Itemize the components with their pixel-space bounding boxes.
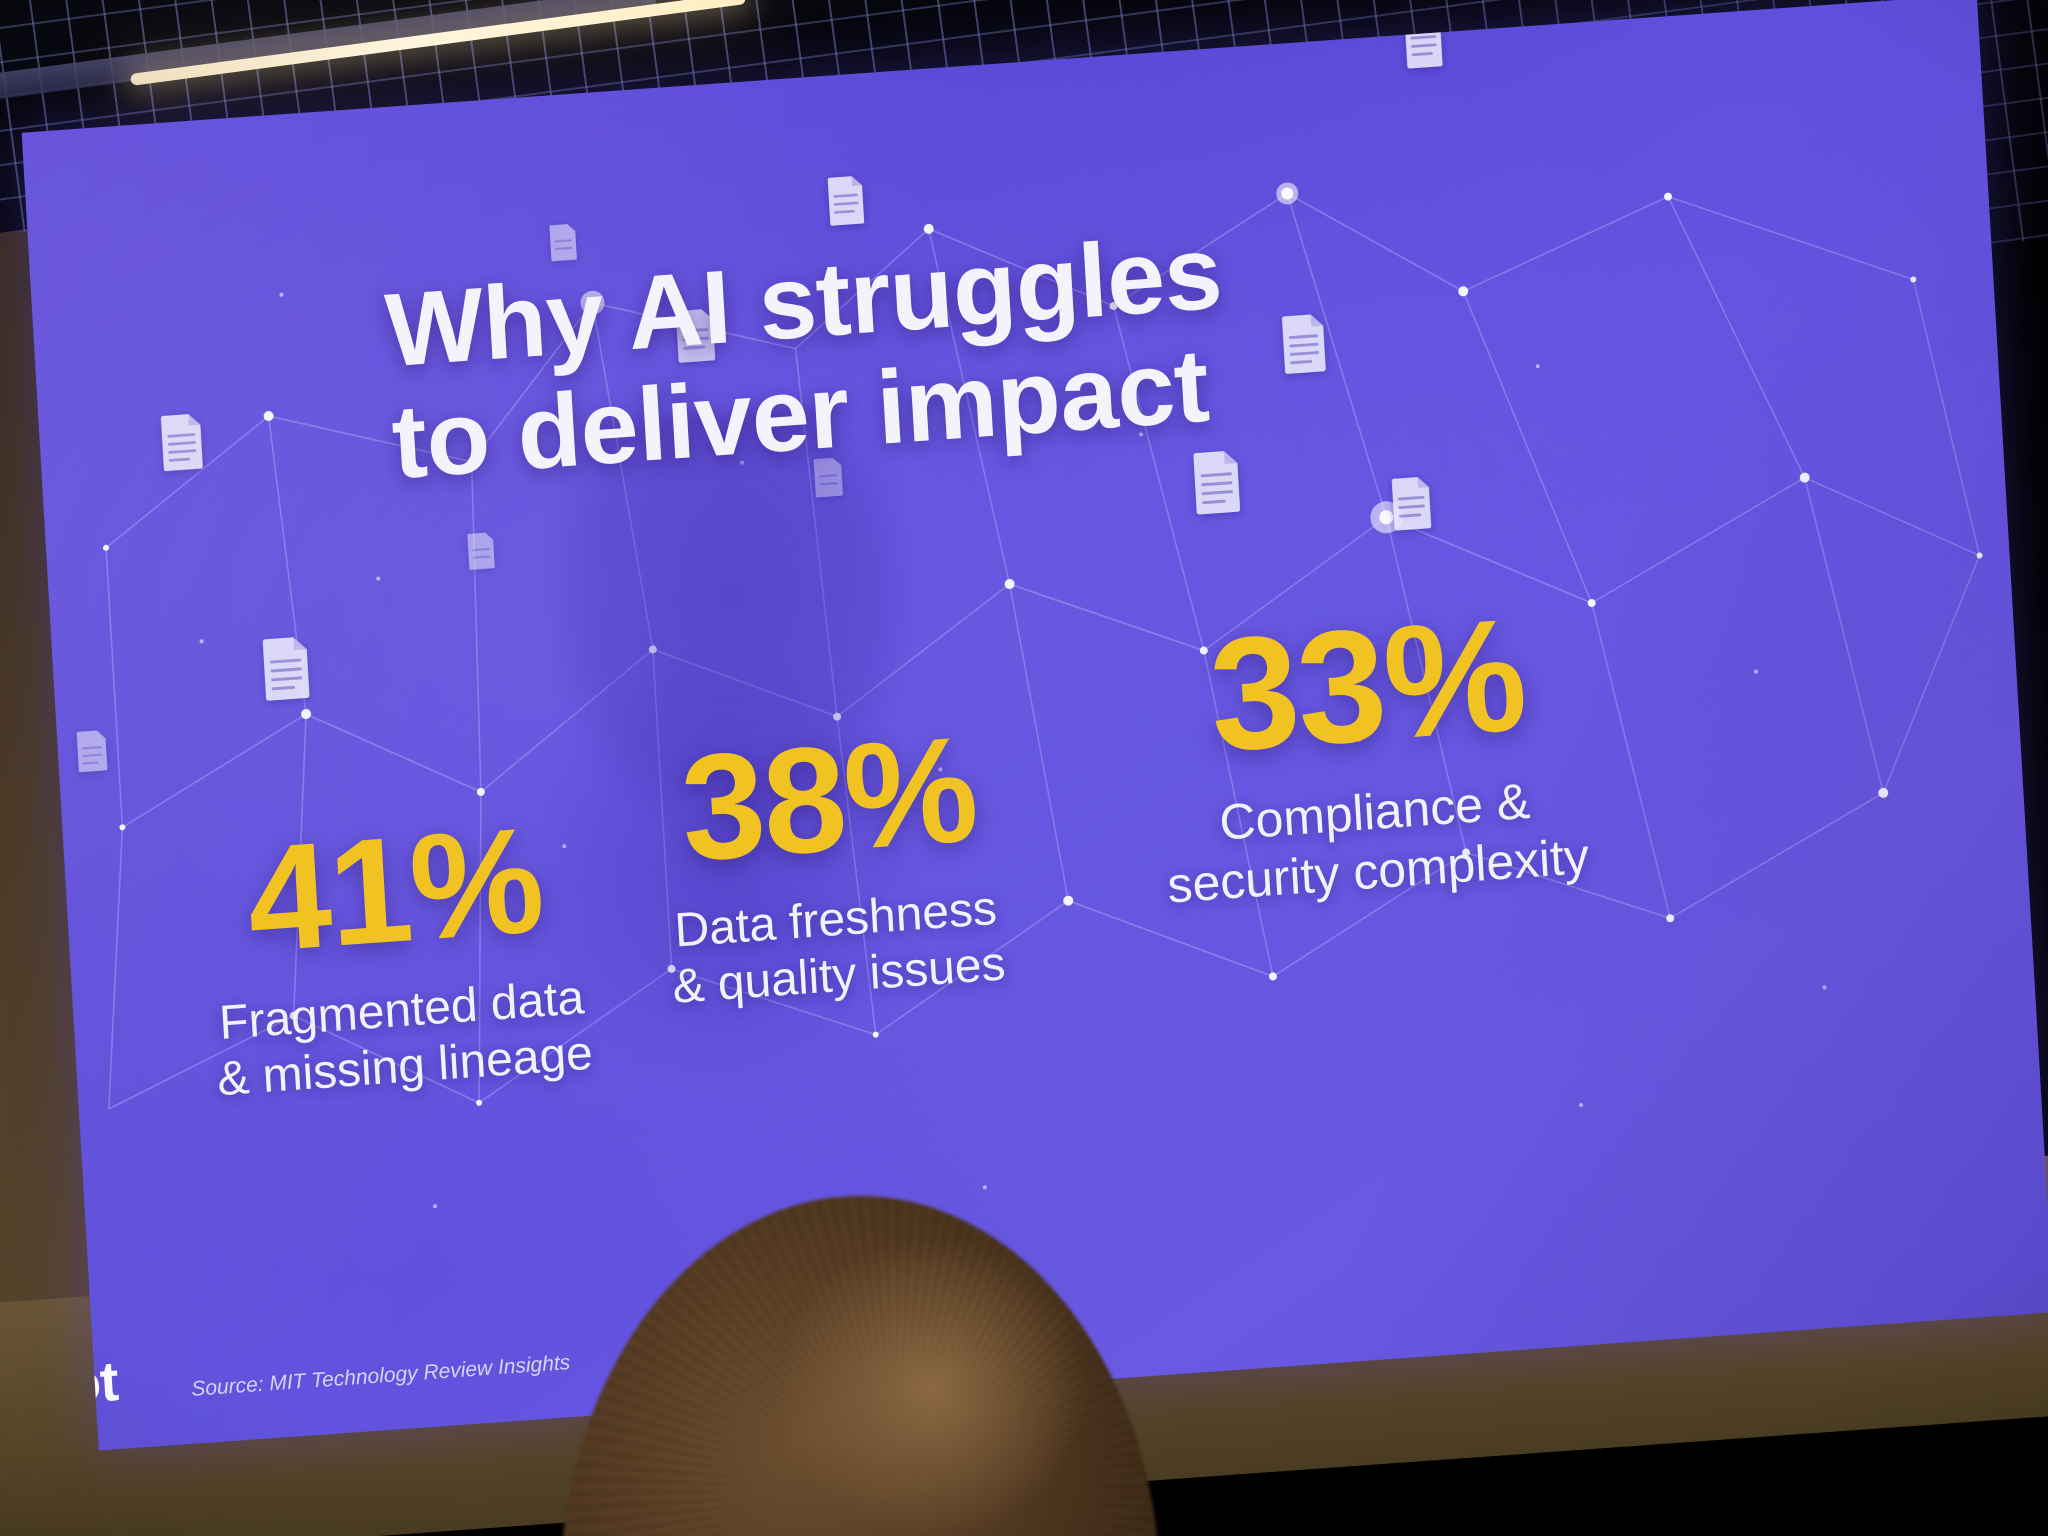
- screenshot-root: Why AI struggles to deliver impact 41% F…: [0, 0, 2048, 1536]
- document-icon: [548, 222, 580, 262]
- document-icon: [75, 728, 111, 772]
- stat-value: 41%: [203, 805, 587, 974]
- stat-block-data-freshness: 38% Data freshness & quality issues: [658, 716, 1007, 1017]
- stat-block-compliance-security: 33% Compliance & security complexity: [1152, 594, 1590, 915]
- document-icon: [1389, 474, 1436, 531]
- stat-caption: Data freshness & quality issues: [668, 880, 1007, 1017]
- document-icon: [1190, 447, 1246, 515]
- slide-surface: Why AI struggles to deliver impact 41% F…: [22, 0, 2048, 1451]
- stat-block-fragmented-data: 41% Fragmented data & missing lineage: [203, 805, 594, 1109]
- stat-value: 33%: [1152, 594, 1582, 776]
- stat-value: 38%: [658, 716, 999, 882]
- stat-caption: Compliance & security complexity: [1162, 768, 1590, 916]
- document-icon: [466, 530, 498, 570]
- document-icon: [825, 173, 868, 226]
- projection-screen: Why AI struggles to deliver impact 41% F…: [22, 0, 2048, 1451]
- stat-caption: Fragmented data & missing lineage: [212, 969, 594, 1109]
- document-icon: [158, 411, 207, 472]
